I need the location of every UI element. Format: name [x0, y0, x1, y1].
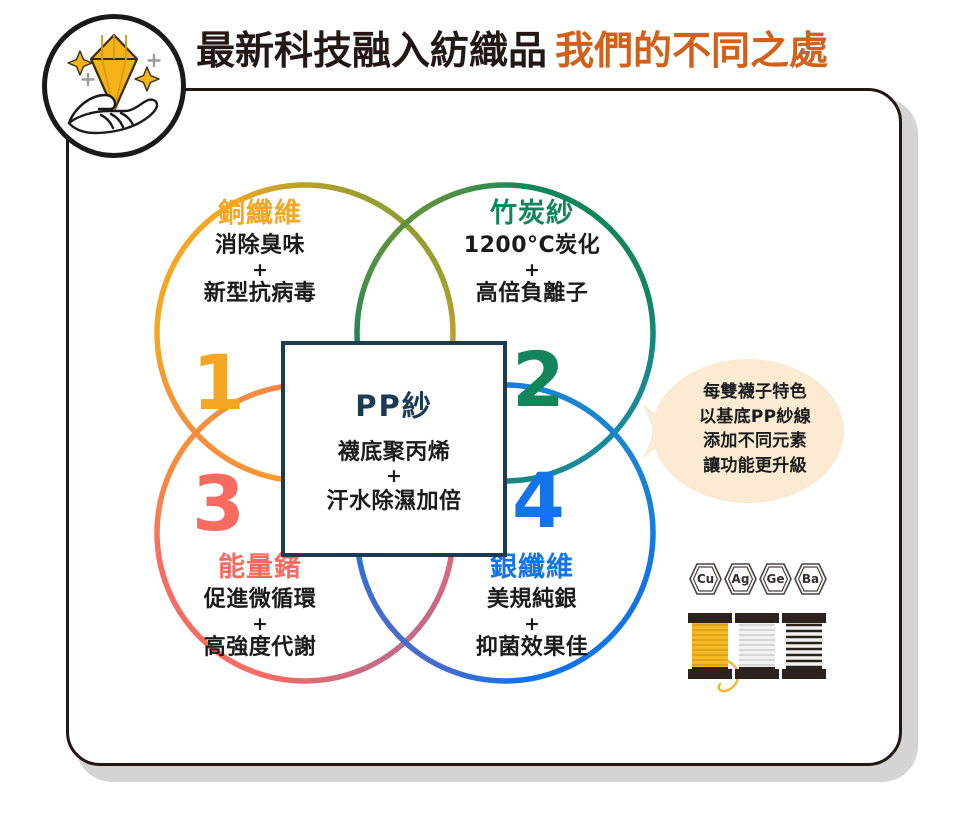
element-chip-ba: Ba [793, 562, 828, 596]
numeral-4: 4 [512, 463, 565, 539]
element-chip-ba-label: Ba [793, 562, 828, 596]
element-chip-ge-label: Ge [758, 562, 793, 596]
numeral-1: 1 [192, 345, 245, 421]
numeral-2: 2 [512, 342, 565, 418]
element-chip-cu: Cu [688, 562, 723, 596]
center-pp-yarn-box: PP紗 襪底聚丙烯 + 汗水除濕加倍 [281, 341, 507, 557]
gold-thread-spool [688, 613, 738, 691]
page-title: 最新科技融入紡織品 我們的不同之處 [196, 22, 828, 74]
center-plus: + [386, 466, 402, 488]
hand-icon [69, 95, 157, 133]
title-accent: 我們的不同之處 [555, 20, 828, 76]
element-chip-ag: Ag [723, 562, 758, 596]
thread-spool-group [682, 603, 832, 703]
infographic-canvas: 最新科技融入紡織品 我們的不同之處 [0, 0, 960, 816]
element-chip-ge: Ge [758, 562, 793, 596]
center-title: PP紗 [355, 383, 433, 425]
numeral-3: 3 [192, 466, 245, 542]
speech-bubble [630, 352, 850, 510]
silver-thread-spool [735, 613, 779, 679]
hand-holding-gem-logo [42, 14, 186, 158]
center-line2: 汗水除濕加倍 [326, 488, 461, 516]
title-main: 最新科技融入紡織品 [196, 20, 547, 76]
element-chip-cu-label: Cu [688, 562, 723, 596]
element-chip-row: Cu Ag Ge Ba [688, 562, 828, 596]
center-line1: 襪底聚丙烯 [338, 439, 451, 467]
element-chip-ag-label: Ag [723, 562, 758, 596]
black-thread-spool [782, 613, 826, 679]
